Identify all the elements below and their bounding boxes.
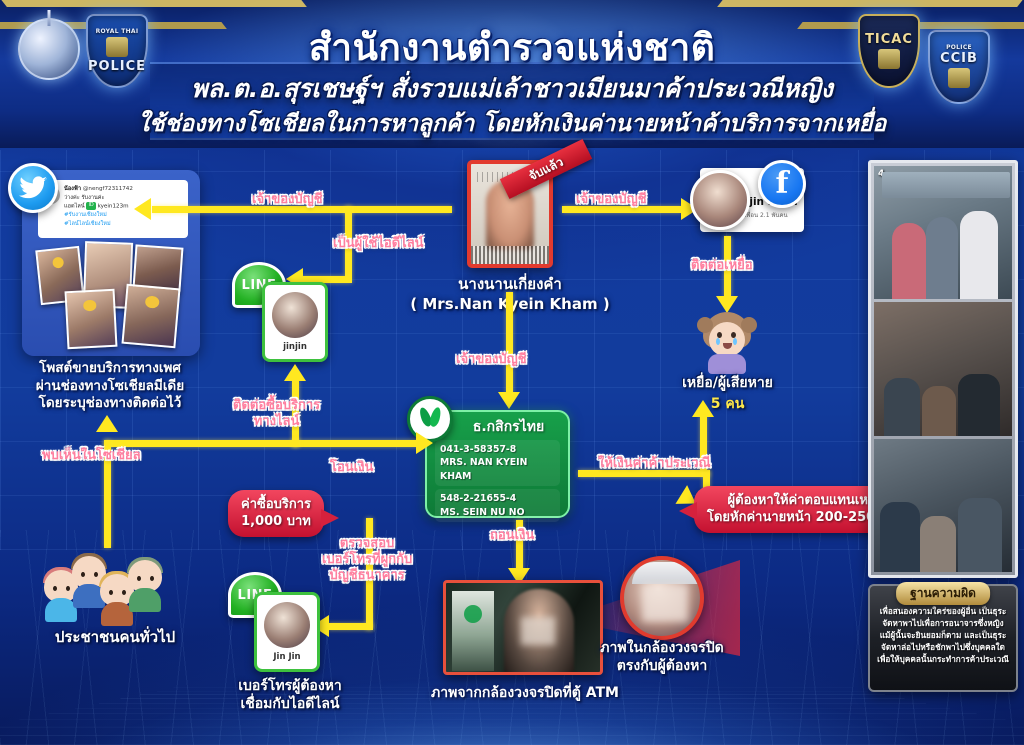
victim-avatar-icon <box>700 312 754 374</box>
line-profile-card-bottom: Jin Jin <box>254 592 320 672</box>
callout-cctv-match: ภาพในกล้องวงจรปิดตรงกับผู้ต้องหา <box>582 640 742 675</box>
callout-service-fee: ค่าซื้อบริการ1,000 บาท <box>228 490 324 537</box>
general-public-label: ประชาชนคนทั่วไป <box>40 628 190 647</box>
victim-label-line-1: เหยื่อ/ผู้เสียหาย <box>655 375 800 393</box>
general-public-group-icon <box>44 552 184 628</box>
twitter-bird-icon <box>8 163 58 213</box>
arrow-line-owner-down <box>506 292 513 394</box>
infographic-canvas: ROYAL THAI POLICE TICAC POLICE CCIB สำนั… <box>0 0 1024 745</box>
tweet-handle-row: น้องฟ้า @nengf72311742 <box>64 185 182 194</box>
arrest-photo-1: 4 <box>874 166 1012 299</box>
tweet-display-name: น้องฟ้า <box>64 186 81 192</box>
collage-photo-4 <box>65 289 118 350</box>
cctv-blurred-face <box>642 584 688 622</box>
line-bottom-caption: เบอร์โทรผู้ต้องหาเชื่อมกับไอดีไลน์ <box>210 678 370 713</box>
tweet-hashtag-2: #ไลน์ไลน์เชียงใหม่ <box>64 220 182 229</box>
line-profile-avatar-top <box>272 292 318 338</box>
line-profile-name-top: jinjin <box>283 342 307 352</box>
label-account-owner-right: เจ้าของบัญชี <box>576 192 647 208</box>
bank-account-row: 041-3-58357-8 MRS. NAN KYEIN KHAM <box>435 440 560 486</box>
charge-description: เพื่อสนองความใคร่ของผู้อื่น เป็นธุระ จัด… <box>875 606 1011 665</box>
twitter-post-caption: โพสต์ขายบริการทางเพศผ่านช่องทางโซเชียลมี… <box>8 360 212 413</box>
header-banner: ROYAL THAI POLICE TICAC POLICE CCIB สำนั… <box>0 0 1024 148</box>
bank-name: ธ.กสิกรไทย <box>435 416 560 438</box>
tweet-photo-collage <box>32 242 192 350</box>
charge-information-box: ฐานความผิด เพื่อสนองความใคร่ของผู้อื่น เ… <box>868 584 1018 692</box>
arrow-head-transfer-money <box>416 432 433 454</box>
arrow-line-check-phone-horizontal <box>328 623 373 630</box>
tweet-line-2-prefix: แอดไลน์ <box>64 204 85 210</box>
facebook-profile-avatar <box>690 170 750 230</box>
arrow-head-pay-up <box>692 400 714 417</box>
bank-account-holder-2: MS. SEIN NU NO <box>440 506 555 519</box>
atm-bank-logo-icon <box>464 605 482 623</box>
arrow-head-buy-service <box>284 364 306 381</box>
label-account-owner-left: เจ้าของบัญชี <box>252 192 323 208</box>
bank-account-row: 548-2-21655-4 MS. SEIN NU NO <box>435 489 560 522</box>
mugshot-barcode <box>471 246 549 264</box>
facebook-logo-icon: f <box>758 160 806 208</box>
label-withdraw-money: ถอนเงิน <box>490 528 534 544</box>
cctv-closeup-photo <box>620 556 704 640</box>
atm-machine <box>452 591 494 671</box>
label-check-phone-linked: ตรวจสอบเบอร์โทรที่ผูกกับบัญชีธนาคาร <box>322 536 412 584</box>
bank-account-card: ธ.กสิกรไทย 041-3-58357-8 MRS. NAN KYEIN … <box>425 410 570 518</box>
collage-photo-5 <box>121 284 180 348</box>
charge-title: ฐานความผิด <box>896 582 990 605</box>
arrow-head-owner-down <box>498 392 520 409</box>
bank-account-number-2: 548-2-21655-4 <box>440 492 555 505</box>
arrow-line-transfer-left-branch <box>104 440 299 447</box>
arrow-line-transfer-money <box>292 440 422 447</box>
cctv-person-cap <box>632 562 700 584</box>
header-subtitle-1: พล.ต.อ.สุรเชษฐ์ฯ สั่งรวบแม่เล้าชาวเมียนม… <box>0 69 1024 109</box>
tweet-line-1: ว่างค่ะ รับงานค่ะ <box>64 194 182 203</box>
line-profile-avatar-bottom <box>264 602 310 648</box>
arrest-photo-panel: 4 <box>868 160 1018 578</box>
line-profile-card-top: jinjin <box>262 282 328 362</box>
arrow-head-owner-left <box>134 198 151 220</box>
bank-account-number-1: 041-3-58357-8 <box>440 443 555 456</box>
label-line-id-user: เป็นผู้ใช้ไอดีไลน์ <box>333 236 424 252</box>
arrow-head-contact-victim <box>716 296 738 313</box>
victim-label-line-2: 5 คน <box>655 396 800 414</box>
atm-photo-caption: ภาพจากกล้องวงจรปิดที่ตู้ ATM <box>390 682 660 704</box>
tweet-line-id: kyein123m <box>98 204 129 210</box>
label-contact-victim: ติดต่อเหยื่อ <box>691 258 753 274</box>
label-contact-buy-service: ติดต่อซื้อบริการทางไลน์ <box>233 398 320 430</box>
arrest-photo-2 <box>874 302 1012 435</box>
label-seen-on-social: พบเห็นในโซเชียล <box>42 448 141 464</box>
arrow-head-seen-social <box>96 415 118 432</box>
arrest-photo-3 <box>874 439 1012 572</box>
bank-account-holder-1: MRS. NAN KYEIN KHAM <box>440 456 555 483</box>
tweet-handle: @nengf72311742 <box>83 186 133 192</box>
label-transfer-money: โอนเงิน <box>330 460 373 476</box>
line-profile-name-bottom: Jin Jin <box>273 652 300 662</box>
label-pay-prostitution: ให้เงินค่าค้าประเวณี <box>598 456 711 472</box>
line-id-badge-icon: ID <box>86 202 95 210</box>
label-account-owner-down: เจ้าของบัญชี <box>456 352 527 368</box>
header-subtitle-2: ใช้ช่องทางโซเชียลในการหาลูกค้า โดยหักเงิ… <box>0 106 1024 142</box>
atm-cctv-photo <box>443 580 603 675</box>
atm-person-blurred-face <box>521 617 555 645</box>
